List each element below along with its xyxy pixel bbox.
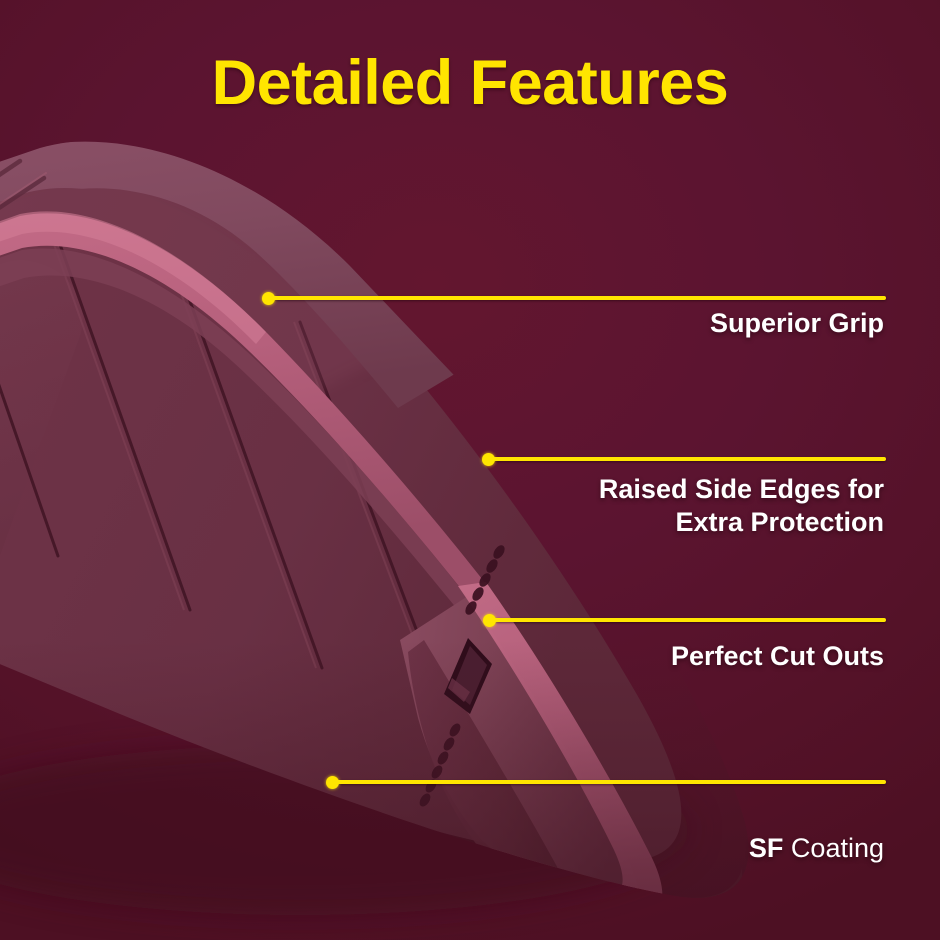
callout-label-raised-side-edges: Raised Side Edges for Extra Protection: [384, 473, 884, 539]
callout-dot-sf-coating: [326, 776, 339, 789]
page-title: Detailed Features: [0, 52, 940, 115]
callout-dot-superior-grip: [262, 292, 275, 305]
callout-line-sf-coating: [332, 780, 886, 784]
callout-dot-perfect-cut-outs: [483, 614, 496, 627]
callout-label-superior-grip: Superior Grip: [384, 307, 884, 340]
callout-label-sf-coating-rest: Coating: [783, 833, 884, 863]
callout-line-raised-side-edges: [488, 457, 886, 461]
callout-label-sf-coating: SF Coating: [384, 799, 884, 865]
infographic-canvas: Detailed Features Superior Grip Raised S…: [0, 0, 940, 940]
callout-label-perfect-cut-outs: Perfect Cut Outs: [384, 640, 884, 673]
callout-dot-raised-side-edges: [482, 453, 495, 466]
callout-line-superior-grip: [268, 296, 886, 300]
callout-line-perfect-cut-outs: [489, 618, 886, 622]
callout-label-sf-coating-bold: SF: [749, 833, 784, 863]
